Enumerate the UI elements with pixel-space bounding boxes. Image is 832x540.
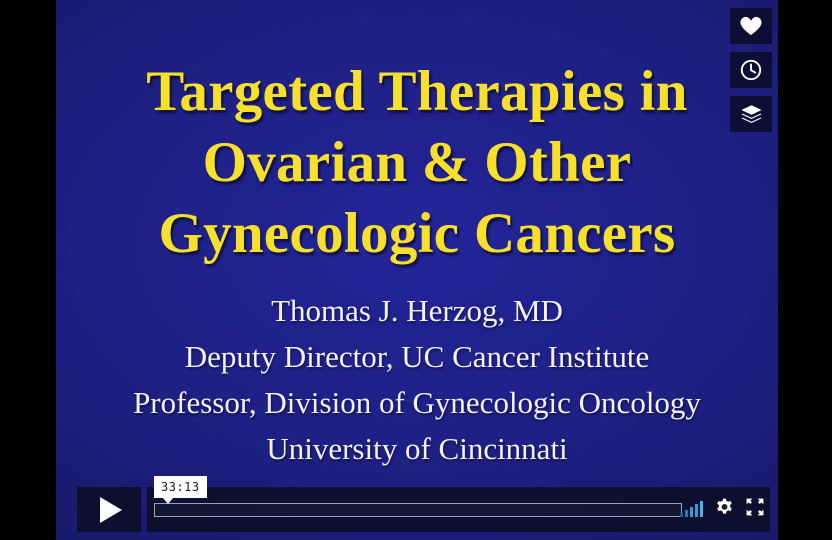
add-to-playlist-button[interactable] bbox=[730, 96, 772, 132]
gear-icon bbox=[715, 498, 734, 522]
fullscreen-button[interactable] bbox=[746, 498, 764, 522]
settings-button[interactable] bbox=[715, 498, 734, 522]
time-tooltip: 33:13 bbox=[154, 476, 207, 498]
heart-icon bbox=[740, 16, 762, 36]
progress-track[interactable] bbox=[154, 503, 682, 517]
presentation-slide: Targeted Therapies in Ovarian & Other Gy… bbox=[56, 0, 778, 540]
slide-subtitle-line: Thomas J. Herzog, MD bbox=[66, 288, 768, 334]
player-control-bar: 33:13 bbox=[56, 478, 778, 540]
progress-bar[interactable]: 33:13 bbox=[154, 503, 682, 517]
scrubber-panel[interactable]: 33:13 bbox=[147, 487, 770, 532]
play-icon bbox=[100, 497, 122, 523]
video-stage[interactable]: Targeted Therapies in Ovarian & Other Gy… bbox=[56, 0, 778, 540]
volume-bars-icon bbox=[680, 502, 703, 517]
clock-icon bbox=[740, 59, 762, 81]
slide-title-line: Targeted Therapies in bbox=[70, 56, 764, 127]
slide-title: Targeted Therapies in Ovarian & Other Gy… bbox=[56, 56, 778, 269]
volume-button[interactable] bbox=[680, 498, 703, 522]
slide-subtitle: Thomas J. Herzog, MD Deputy Director, UC… bbox=[56, 288, 778, 472]
layers-icon bbox=[740, 104, 763, 125]
slide-title-line: Ovarian & Other bbox=[70, 127, 764, 198]
watch-later-button[interactable] bbox=[730, 52, 772, 88]
right-control-group bbox=[680, 487, 764, 532]
video-player[interactable]: Targeted Therapies in Ovarian & Other Gy… bbox=[0, 0, 832, 540]
slide-subtitle-line: Deputy Director, UC Cancer Institute bbox=[66, 334, 768, 380]
fullscreen-icon bbox=[746, 498, 764, 521]
slide-title-line: Gynecologic Cancers bbox=[70, 198, 764, 269]
play-button[interactable] bbox=[77, 487, 141, 532]
slide-subtitle-line: University of Cincinnati bbox=[66, 426, 768, 472]
slide-subtitle-line: Professor, Division of Gynecologic Oncol… bbox=[66, 380, 768, 426]
overlay-action-buttons bbox=[730, 8, 772, 132]
favorite-button[interactable] bbox=[730, 8, 772, 44]
